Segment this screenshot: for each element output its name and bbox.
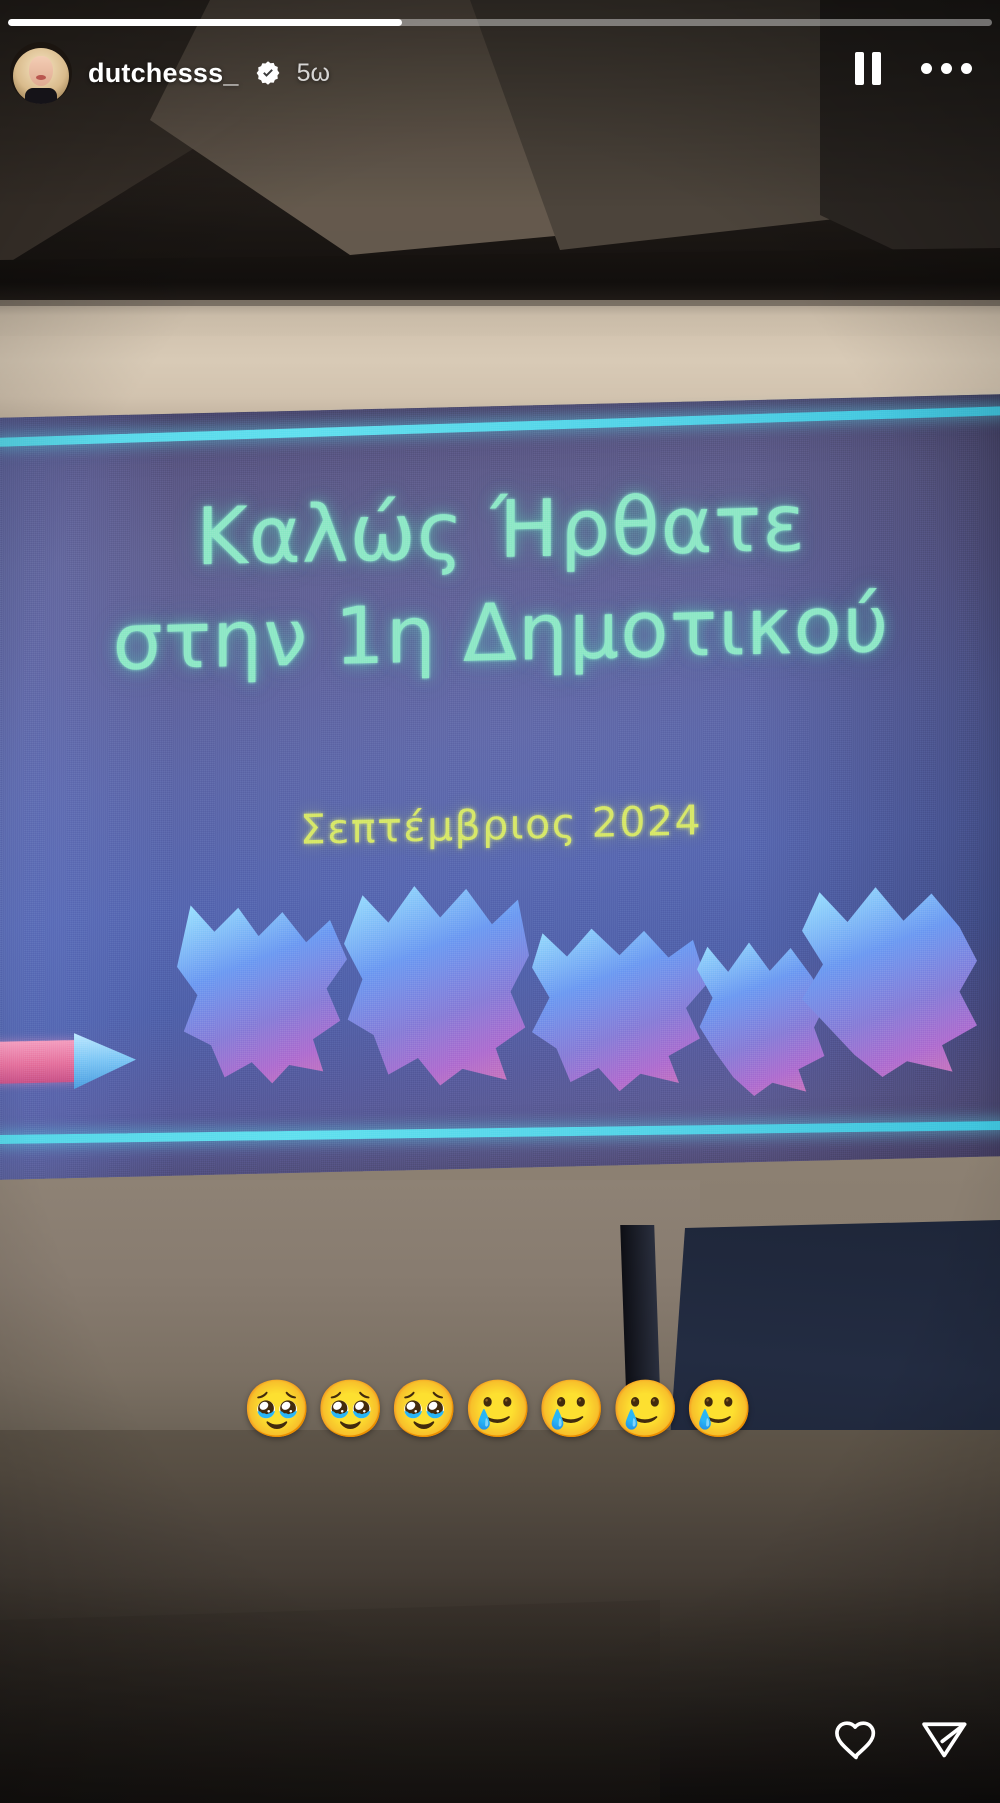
story-bottom-actions [830, 1713, 970, 1765]
story-progress-bar[interactable] [8, 19, 992, 26]
pause-bar-left [855, 52, 864, 85]
pause-icon[interactable] [855, 52, 881, 85]
verified-badge-icon [255, 60, 281, 86]
pencil-graphic [0, 1030, 132, 1094]
shaving-1 [177, 902, 347, 1086]
username-label[interactable]: dutchesss_ [88, 58, 239, 89]
pencil-body [0, 1040, 77, 1084]
projected-slide: Καλώς Ήρθατε στην 1η Δημοτικού Σεπτέμβρι… [0, 394, 1000, 1180]
shaving-5 [802, 885, 977, 1079]
ceiling-beam [0, 248, 1000, 306]
pencil-shavings-graphic [0, 864, 1000, 1133]
story-viewer: Καλώς Ήρθατε στην 1η Δημοτικού Σεπτέμβρι… [0, 0, 1000, 1803]
more-dot-1 [921, 63, 932, 74]
wall-trim [0, 300, 1000, 336]
more-options-icon[interactable] [921, 63, 972, 74]
more-dot-2 [941, 63, 952, 74]
story-photo: Καλώς Ήρθατε στην 1η Δημοτικού Σεπτέμβρι… [0, 0, 1000, 1803]
slide-title-line1: Καλώς Ήρθατε [196, 477, 806, 583]
story-progress-fill [8, 19, 402, 26]
avatar-torso [25, 88, 57, 104]
heart-icon[interactable] [830, 1713, 882, 1765]
floor-board [0, 1600, 660, 1803]
shaving-3 [532, 919, 707, 1093]
story-header: dutchesss_ 5ω [10, 42, 330, 104]
shaving-2 [344, 883, 529, 1087]
timestamp-label: 5ω [297, 59, 330, 88]
pause-bar-right [872, 52, 881, 85]
share-paper-plane-icon[interactable] [918, 1713, 970, 1765]
avatar[interactable] [10, 42, 72, 104]
avatar-face [29, 56, 53, 86]
shaving-4 [697, 934, 827, 1097]
avatar-lips [36, 75, 46, 80]
slide-title: Καλώς Ήρθατε στην 1η Δημοτικού [0, 472, 1000, 692]
pencil-tip [74, 1032, 136, 1089]
more-dot-3 [961, 63, 972, 74]
emoji-sticker[interactable]: 🥹🥹🥹🥲🥲🥲🥲 [0, 1382, 1000, 1438]
story-top-actions [855, 52, 972, 85]
